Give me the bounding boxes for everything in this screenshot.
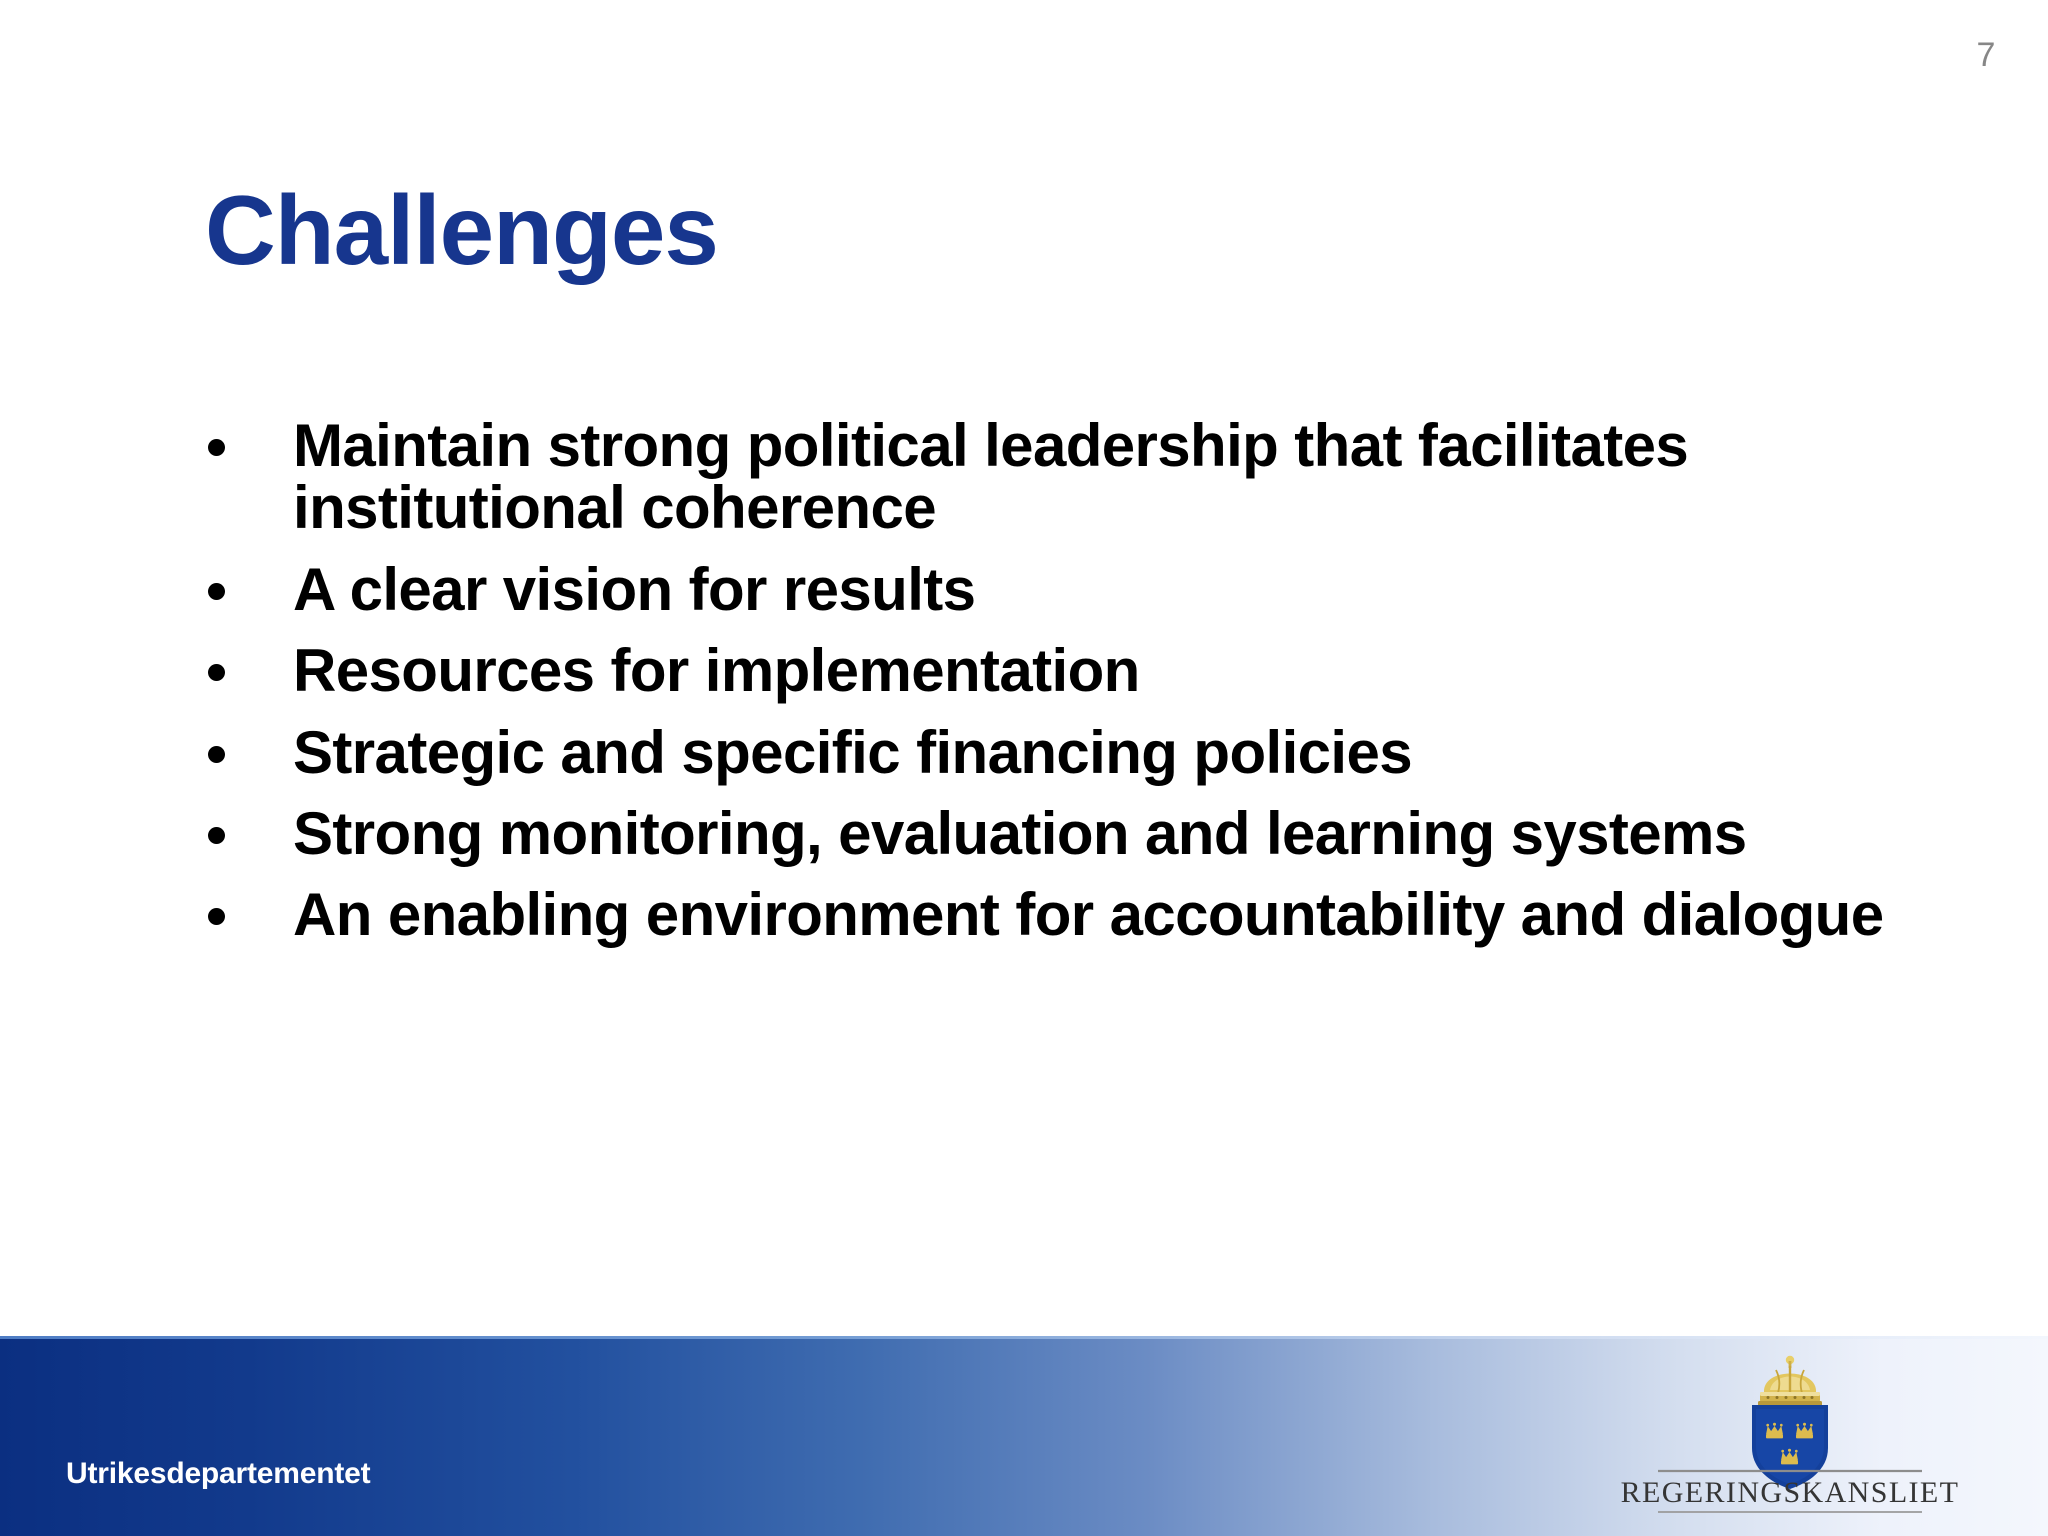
list-item: An enabling environment for accountabili… [196, 884, 1926, 946]
bullet-list: Maintain strong political leadership tha… [196, 415, 1926, 947]
logo-wordmark: REGERINGSKANSLIET [1621, 1476, 1960, 1509]
footer-department-label: Utrikesdepartementet [66, 1457, 370, 1491]
bullet-dot-icon [208, 583, 225, 600]
list-item: A clear vision for results [196, 559, 1926, 621]
footer-top-hairline [0, 1336, 2048, 1339]
list-item: Strong monitoring, evaluation and learni… [196, 803, 1926, 865]
list-item: Strategic and specific financing policie… [196, 722, 1926, 784]
coat-of-arms-icon: REGERINGSKANSLIET [1610, 1352, 1970, 1522]
list-item: Maintain strong political leadership tha… [196, 415, 1926, 540]
bullet-dot-icon [208, 746, 225, 763]
slide-canvas: 7 Challenges Maintain strong political l… [0, 0, 2048, 1536]
regeringskansliet-logo: REGERINGSKANSLIET [1610, 1352, 1970, 1522]
page-number: 7 [1956, 38, 2016, 72]
bullet-dot-icon [208, 664, 225, 681]
bullet-dot-icon [208, 908, 225, 925]
list-item-text: Strong monitoring, evaluation and learni… [293, 800, 1747, 867]
royal-crown-icon [1758, 1356, 1822, 1406]
list-item: Resources for implementation [196, 640, 1926, 702]
page-title: Challenges [205, 181, 718, 279]
list-item-text: Strategic and specific financing policie… [293, 719, 1412, 786]
list-item-text: A clear vision for results [293, 556, 975, 623]
bullet-dot-icon [208, 827, 225, 844]
list-item-text: An enabling environment for accountabili… [293, 881, 1884, 948]
list-item-text: Resources for implementation [293, 637, 1140, 704]
bullet-dot-icon [208, 439, 225, 456]
list-item-text: Maintain strong political leadership tha… [293, 412, 1688, 541]
